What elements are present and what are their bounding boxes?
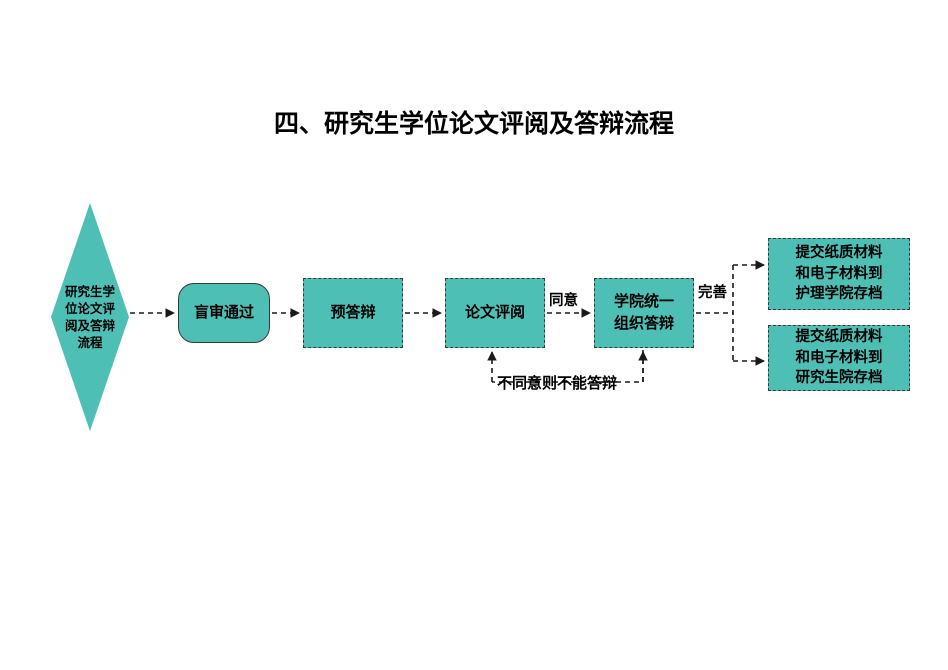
node-archive-grad-school-label: 提交纸质材料 和电子材料到 研究生院存档 (796, 327, 883, 389)
node-archive-grad-school[interactable]: 提交纸质材料 和电子材料到 研究生院存档 (768, 325, 910, 391)
node-pre-defense[interactable]: 预答辩 (303, 278, 403, 348)
flowchart-canvas: 四、研究生学位论文评阅及答辩流程 研究生学 位论文评 阅及答辩 流程 盲审通过 (0, 0, 948, 670)
edge-label-disagree: 不同意则不能答辩 (497, 372, 617, 393)
node-college-defense-label: 学院统一 组织答辩 (614, 291, 674, 335)
node-college-defense[interactable]: 学院统一 组织答辩 (594, 278, 694, 348)
edge-label-agree: 同意 (549, 289, 578, 310)
node-blind-review-label: 盲审通过 (194, 303, 254, 323)
edge-label-complete: 完善 (698, 281, 727, 302)
node-archive-college[interactable]: 提交纸质材料 和电子材料到 护理学院存档 (768, 238, 910, 310)
page-title: 四、研究生学位论文评阅及答辩流程 (0, 104, 948, 140)
node-start-diamond[interactable]: 研究生学 位论文评 阅及答辩 流程 (51, 203, 129, 431)
node-archive-college-label: 提交纸质材料 和电子材料到 护理学院存档 (796, 243, 883, 305)
node-pre-defense-label: 预答辩 (330, 303, 375, 323)
node-thesis-review-label: 论文评阅 (465, 303, 525, 323)
node-blind-review[interactable]: 盲审通过 (178, 283, 270, 343)
node-thesis-review[interactable]: 论文评阅 (445, 278, 545, 348)
node-start-label: 研究生学 位论文评 阅及答辩 流程 (53, 283, 127, 351)
